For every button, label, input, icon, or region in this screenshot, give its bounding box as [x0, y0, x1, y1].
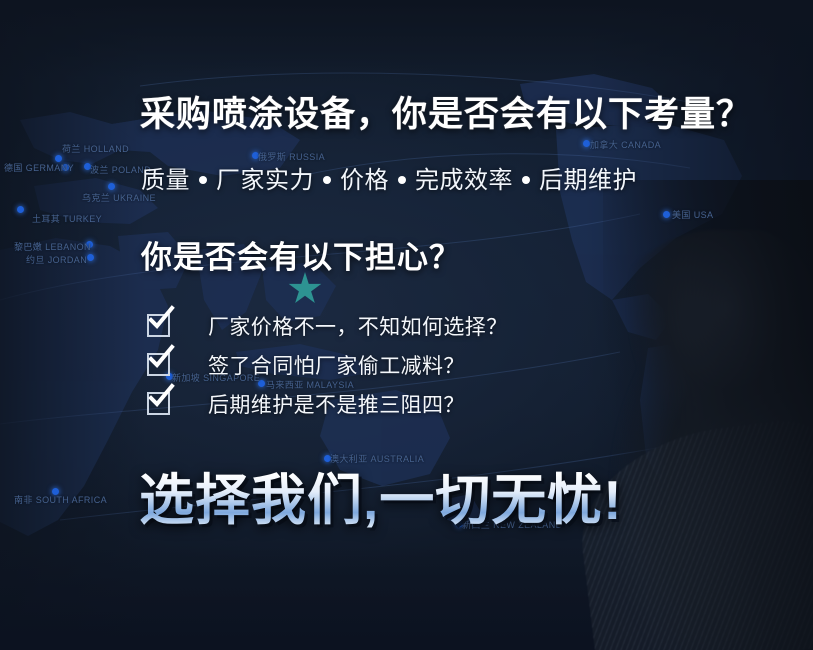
checklist-item: 厂家价格不一，不知如何选择？ — [147, 306, 508, 345]
bullet-dot-icon — [323, 176, 331, 184]
checkbox-checked-icon — [147, 353, 170, 376]
checklist-item-label: 签了合同怕厂家偷工减料？ — [208, 350, 465, 380]
slogan: 选择我们,一切无忧! — [139, 455, 623, 535]
keyword-item: 后期维护 — [539, 167, 637, 194]
keyword-list: 质量厂家实力价格完成效率后期维护 — [141, 160, 637, 195]
banner-content: 采购喷涂设备，你是否会有以下考量？ 质量厂家实力价格完成效率后期维护 你是否会有… — [0, 0, 813, 650]
checkbox-checked-icon — [147, 314, 170, 337]
checklist-item: 后期维护是不是推三阻四？ — [147, 384, 508, 423]
keyword-item: 价格 — [340, 167, 389, 194]
promo-banner: 荷兰 HOLLAND德国 GERMANY波兰 POLAND乌克兰 UKRAINE… — [0, 0, 813, 650]
keyword-item: 完成效率 — [415, 167, 513, 194]
checklist-item: 签了合同怕厂家偷工减料？ — [147, 345, 508, 384]
checklist-item-label: 厂家价格不一，不知如何选择？ — [208, 311, 508, 341]
page-title: 采购喷涂设备，你是否会有以下考量？ — [140, 86, 752, 137]
keyword-item: 质量 — [141, 167, 190, 194]
bullet-dot-icon — [522, 176, 530, 184]
concern-checklist: 厂家价格不一，不知如何选择？签了合同怕厂家偷工减料？后期维护是不是推三阻四？ — [147, 306, 508, 423]
subheading: 你是否会有以下担心？ — [141, 232, 461, 277]
keyword-item: 厂家实力 — [216, 167, 314, 194]
checklist-item-label: 后期维护是不是推三阻四？ — [208, 389, 465, 419]
bullet-dot-icon — [199, 176, 207, 184]
bullet-dot-icon — [398, 176, 406, 184]
checkbox-checked-icon — [147, 392, 170, 415]
